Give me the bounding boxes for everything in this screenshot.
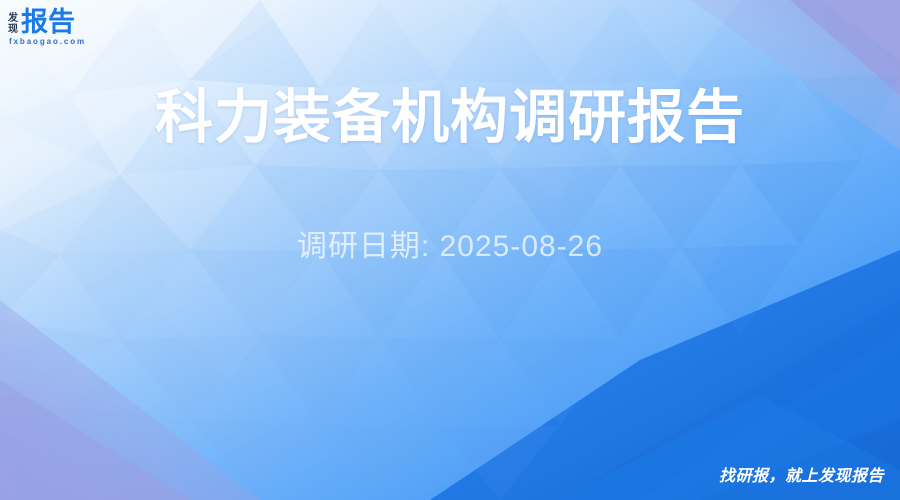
logo-wordmark: 报告 xyxy=(21,8,75,36)
footer-tagline: 找研报，就上发现报告 xyxy=(719,466,884,488)
cover-subtitle: 调研日期: 2025-08-26 xyxy=(0,156,900,268)
logo-url: fxbaogao.com xyxy=(8,37,128,47)
cover-text-block: 科力装备机构调研报告 调研日期: 2025-08-26 xyxy=(0,80,900,268)
report-cover: 发 现 报告 fxbaogao.com 科力装备机构调研报告 调研日期: 202… xyxy=(0,0,900,500)
logo-wordmark-row: 发 现 报告 xyxy=(8,6,128,36)
site-logo[interactable]: 发 现 报告 fxbaogao.com xyxy=(8,6,128,50)
logo-mark-stacked: 发 现 xyxy=(8,13,18,35)
logo-mark-top-char: 发 xyxy=(8,13,18,24)
page-title: 科力装备机构调研报告 xyxy=(0,80,900,156)
logo-mark-bottom-char: 现 xyxy=(8,24,18,35)
